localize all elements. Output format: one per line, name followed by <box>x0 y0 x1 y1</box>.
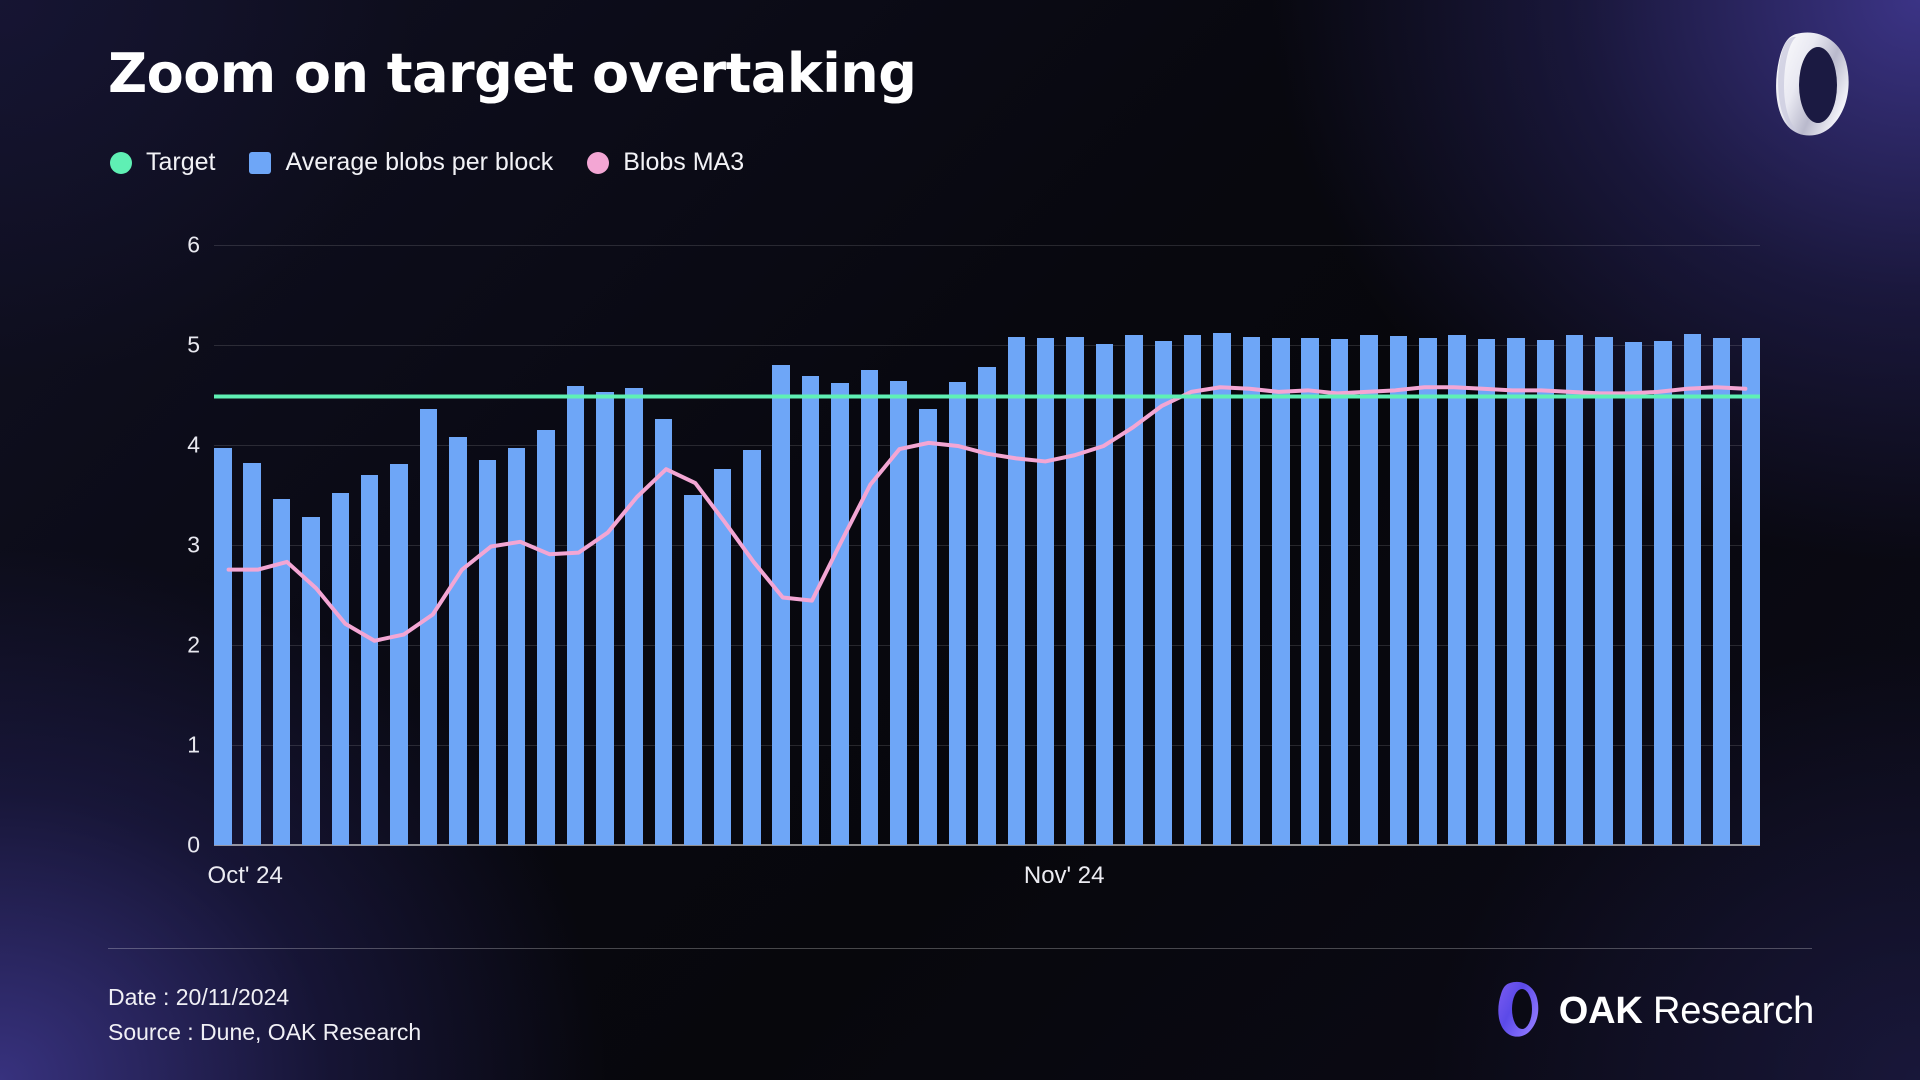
footer-date: Date : 20/11/2024 <box>108 980 421 1015</box>
oak-research-logo: OAK Research <box>1495 980 1814 1043</box>
x-axis: Oct' 24Nov' 24 <box>214 862 1774 902</box>
oak-ring-logo-icon <box>1495 980 1543 1043</box>
x-axis-tick-label: Oct' 24 <box>208 862 283 890</box>
legend-circle-icon <box>110 152 132 174</box>
logo-wordmark-research: Research <box>1643 990 1814 1032</box>
footer-source: Source : Dune, OAK Research <box>108 1015 421 1050</box>
oak-ring-icon <box>1766 28 1858 140</box>
y-axis-tick-label: 3 <box>187 532 200 559</box>
footer-divider <box>108 948 1812 949</box>
legend-circle-icon <box>587 152 609 174</box>
blobs-ma3-line <box>229 387 1746 641</box>
y-axis-tick-label: 1 <box>187 732 200 759</box>
y-axis-tick-label: 6 <box>187 232 200 259</box>
y-axis-tick-label: 4 <box>187 432 200 459</box>
chart-area: 0123456 <box>150 245 1760 845</box>
y-axis-tick-label: 0 <box>187 832 200 859</box>
line-overlay <box>214 245 1760 1080</box>
logo-wordmark-oak: OAK <box>1559 990 1643 1032</box>
legend-label: Average blobs per block <box>285 148 553 177</box>
legend-label: Blobs MA3 <box>623 148 744 177</box>
chart-frame: Zoom on target overtaking Target <box>0 0 1920 1080</box>
y-axis-tick-label: 5 <box>187 332 200 359</box>
chart-legend: Target Average blobs per block Blobs MA3 <box>110 148 744 177</box>
legend-label: Target <box>146 148 215 177</box>
legend-square-icon <box>249 152 271 174</box>
x-axis-tick-label: Nov' 24 <box>1024 862 1105 890</box>
legend-item-target[interactable]: Target <box>110 148 215 177</box>
footer-meta: Date : 20/11/2024 Source : Dune, OAK Res… <box>108 980 421 1050</box>
legend-item-blobs-ma3[interactable]: Blobs MA3 <box>587 148 744 177</box>
legend-item-average-blobs[interactable]: Average blobs per block <box>249 148 553 177</box>
plot-area <box>214 245 1760 845</box>
page-title: Zoom on target overtaking <box>108 42 916 105</box>
logo-wordmark: OAK Research <box>1559 990 1814 1033</box>
y-axis: 0123456 <box>150 245 208 845</box>
y-axis-tick-label: 2 <box>187 632 200 659</box>
